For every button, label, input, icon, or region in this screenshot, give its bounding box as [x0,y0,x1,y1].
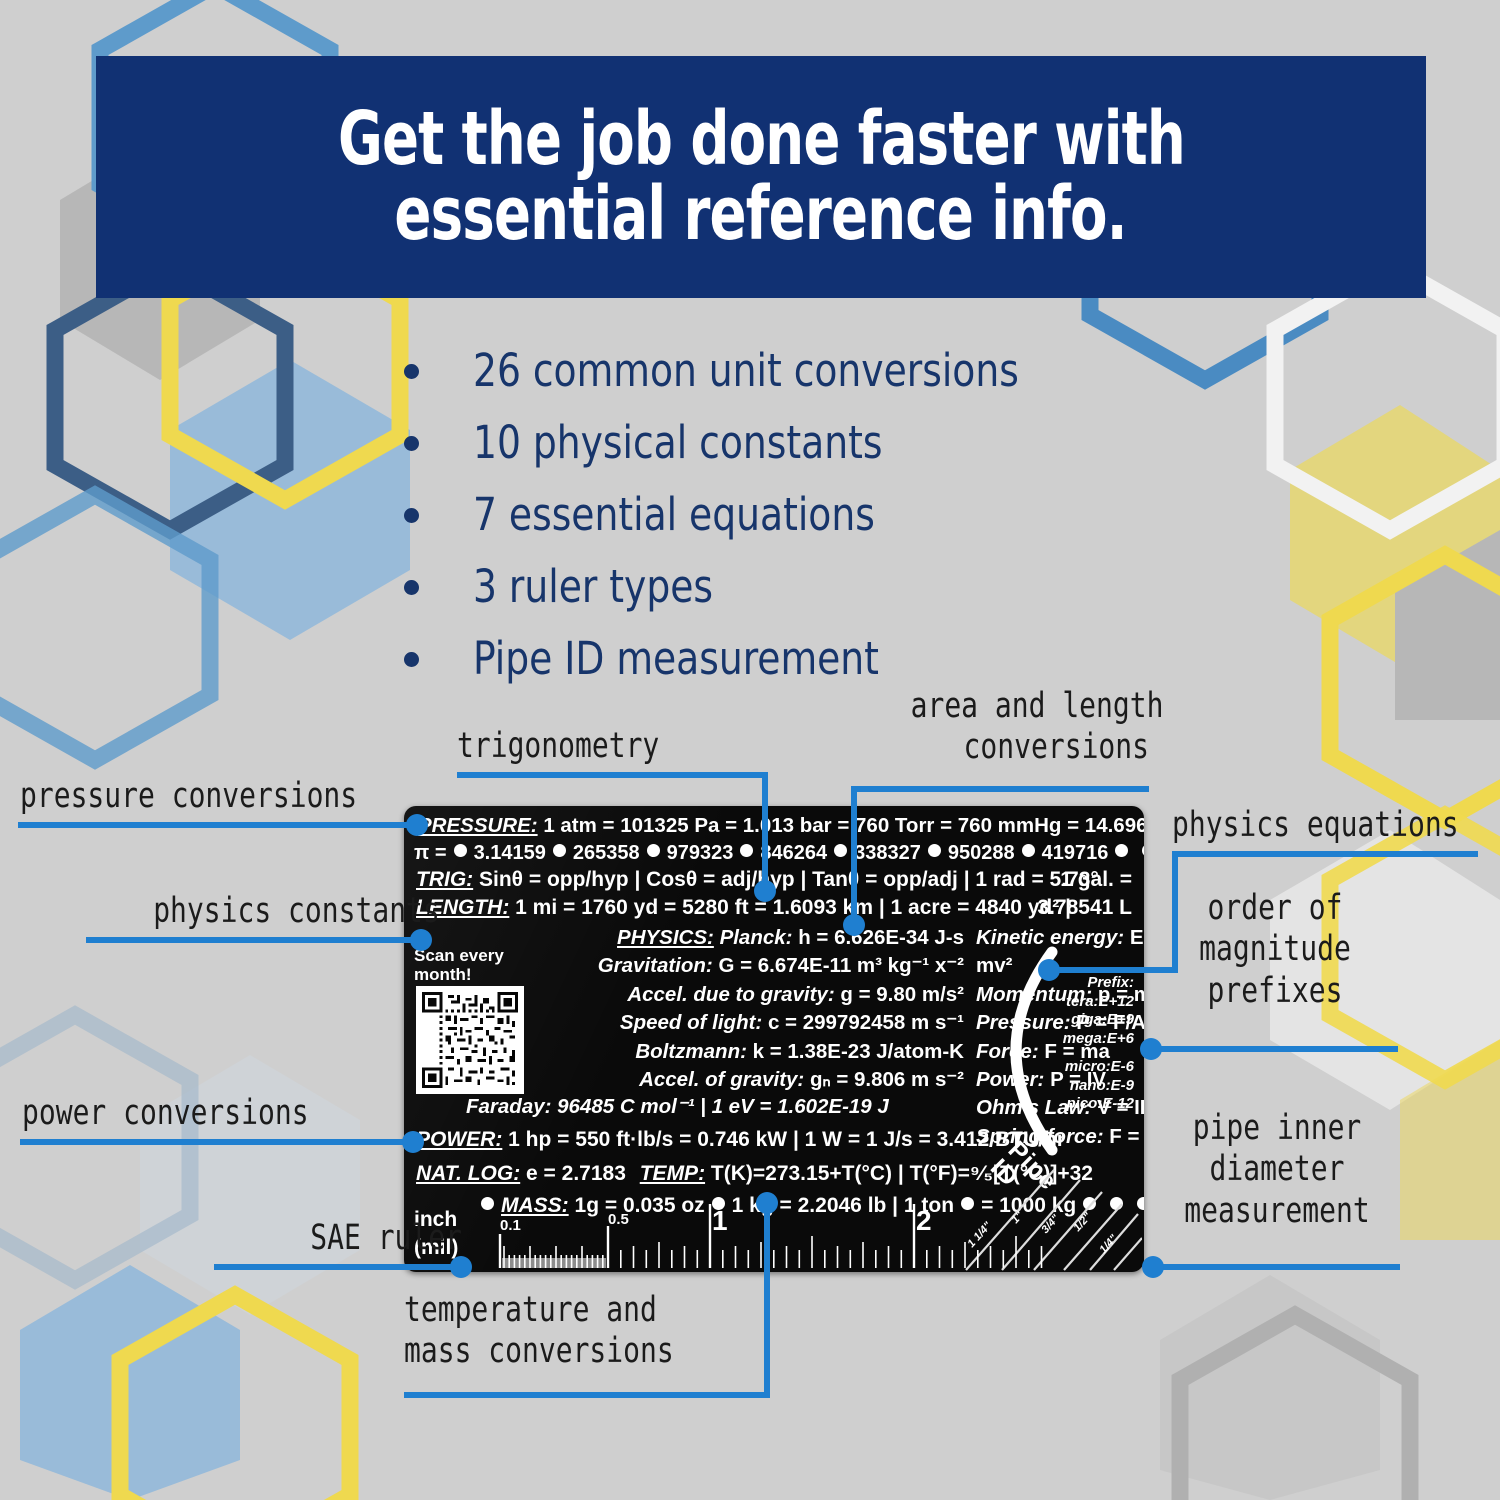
card-faraday-row: Faraday: 96485 C mol⁻¹ | 1 eV = 1.602E-1… [466,1094,889,1119]
leader-dot-physics-constants [410,929,432,951]
header-banner: Get the job done faster with essential r… [96,56,1426,298]
leader-line-temp-mass [404,1392,770,1398]
dot-separator-icon [834,844,847,857]
pipe-size-label: 1/4" [1097,1232,1120,1256]
leader-dot-power [402,1131,424,1153]
leader-dot-physics-equations [1038,959,1060,981]
callout-physics-constants: physics constants [153,891,422,932]
leader-line-trigonometry [457,772,768,778]
constant-value: h = 6.626E-34 J-s [798,926,964,949]
card-power-value: 1 hp = 550 ft·lb/s = 0.746 kW | 1 W = 1 … [508,1128,1065,1151]
card-power-row: POWER: 1 hp = 550 ft·lb/s = 0.746 kW | 1… [416,1128,1065,1152]
callout-pipe-inner-diameter: pipe inner diameter measurement [1179,1108,1376,1232]
prefix-gap [1022,1048,1134,1058]
list-item: 26 common unit conversions [404,340,1060,402]
bullet-label: 10 physical constants [473,412,882,474]
dot-separator-icon [1142,844,1144,857]
callout-temperature-mass-conversions: temperature and mass conversions [404,1290,674,1373]
leader-dot-pressure [406,814,428,836]
card-pressure-label: PRESSURE: [418,814,538,837]
card-natlog-label: NAT. LOG: [416,1162,520,1185]
prefix-item: mega:E+6 [1022,1030,1134,1049]
dot-separator-icon [553,844,566,857]
scan-line-2: month! [414,965,504,984]
card-length-row: LENGTH: 1 mi = 1760 yd = 5280 ft = 1.609… [416,896,1071,920]
callout-order-line-3: prefixes [1177,971,1374,1012]
dot-separator-icon [1022,844,1035,857]
card-temp-label: TEMP: [640,1162,705,1185]
card-pi-group-1: 265358 [573,842,640,864]
leader-line-physics-equations [1172,851,1478,857]
card-pi-group-2: 979323 [667,842,734,864]
leader-line-sae-ruler [214,1264,462,1270]
card-power-label: POWER: [416,1128,502,1151]
bullet-dot-icon [404,508,419,523]
callout-order-line-2: magnitude [1177,929,1374,970]
leader-line-temp-mass-vertical [764,1200,770,1392]
card-pi-group-3: 846264 [760,842,827,864]
card-pi-group-4: 338327 [854,842,921,864]
dot-separator-icon [1115,844,1128,857]
constant-name: Planck: [720,926,793,949]
bullet-label: 26 common unit conversions [473,340,1019,402]
card-physics-constants-column: PHYSICS: Planck: h = 6.626E-34 J-s Gravi… [524,924,964,1094]
constant-value: c = 299792458 m s⁻¹ [768,1011,964,1034]
constant-row: Speed of light: c = 299792458 m s⁻¹ [524,1009,964,1037]
ruler-tick-label: 0.1 [500,1217,521,1234]
ruler-tick-label: 2 [916,1205,932,1236]
list-item: 7 essential equations [404,484,1060,546]
leader-line-pipe-id [1154,1264,1400,1270]
card-pressure-row: PRESSURE: 1 atm = 101325 Pa = 1.013 bar … [418,814,1144,838]
card-pi-group-5: 950288 [948,842,1015,864]
callout-trigonometry: trigonometry [457,726,659,767]
callout-sae-ruler: SAE ruler [264,1218,462,1259]
leader-dot-pipe-id [1142,1256,1164,1278]
prefix-item: tera:E+12 [1022,993,1134,1012]
leader-dot-prefixes [1140,1038,1162,1060]
constant-value: G = 6.674E-11 m³ kg⁻¹ x⁻² [718,954,964,977]
callout-area-length-line-1: area and length [911,686,1149,727]
leader-dot-sae-ruler [450,1256,472,1278]
card-natlog-value: e = 2.7183 [526,1162,626,1185]
dot-separator-icon [928,844,941,857]
pipe-size-label: 1/2" [1071,1210,1094,1234]
leader-dot-trigonometry [754,880,776,902]
prefix-item: pico:E-12 [1022,1095,1134,1114]
leader-line-pressure [18,822,418,828]
constant-name: Accel. due to gravity: [627,983,834,1006]
leader-line-physics-constants [86,937,422,943]
constant-name: Gravitation: [598,954,713,977]
constant-row: Accel. of gravity: gₙ = 9.806 m s⁻² [524,1066,964,1094]
card-gallon-line-1: 1 gal. = [1060,868,1132,892]
constant-name: Boltzmann: [635,1040,747,1063]
dot-separator-icon [740,844,753,857]
leader-line-area-length [851,786,1149,792]
callout-pipe-line-3: measurement [1179,1191,1376,1232]
feature-bullet-list: 26 common unit conversions 10 physical c… [404,340,1060,700]
card-length-value: 1 mi = 1760 yd = 5280 ft = 1.6093 km | 1… [515,896,1071,919]
prefix-title: Prefix: [1022,974,1134,993]
constant-row: Boltzmann: k = 1.38E-23 J/atom-K [524,1038,964,1066]
prefix-item: nano:E-9 [1022,1077,1134,1096]
leader-line-trigonometry-vertical [762,772,768,892]
constant-name: Accel. of gravity: [639,1068,804,1091]
header-title-line-1: Get the job done faster with [338,102,1185,177]
constant-value: k = 1.38E-23 J/atom-K [753,1040,964,1063]
dot-separator-icon [454,844,467,857]
constant-name: Speed of light: [620,1011,762,1034]
callout-area-length-line-2: conversions [911,727,1149,768]
card-pi-label: π = [414,842,447,864]
scan-instruction-text: Scan every month! [414,946,504,984]
qr-code-icon[interactable] [416,986,524,1094]
card-physics-header-row: PHYSICS: Planck: h = 6.626E-34 J-s [524,924,964,952]
bullet-label: 3 ruler types [473,556,713,618]
callout-power-conversions: power conversions [22,1093,309,1134]
callout-area-length-conversions: area and length conversions [911,686,1149,769]
card-physics-label: PHYSICS: [617,926,714,949]
equation-value: F = -kx [1109,1125,1144,1148]
callout-temp-mass-line-2: mass conversions [404,1331,674,1372]
equation-name: Kinetic energy: [976,926,1124,949]
card-pi-group-6: 419716 [1042,842,1109,864]
leader-line-physics-equations-tail [1046,967,1178,973]
constant-row: Accel. due to gravity: g = 9.80 m/s² [524,981,964,1009]
ruler-tick-label: 0.5 [608,1211,629,1228]
bullet-label: Pipe ID measurement [473,628,879,690]
callout-pressure-conversions: pressure conversions [20,776,357,817]
header-title-line-2: essential reference info. [395,177,1127,252]
prefix-item: micro:E-6 [1022,1058,1134,1077]
callout-pipe-line-2: diameter [1179,1149,1376,1190]
card-trig-label: TRIG: [416,868,473,891]
bullet-dot-icon [404,436,419,451]
card-prefix-block: Prefix: tera:E+12 giga:E+9 mega:E+6 micr… [1022,974,1134,1114]
list-item: Pipe ID measurement [404,628,1060,690]
leader-line-prefixes [1152,1046,1398,1052]
list-item: 10 physical constants [404,412,1060,474]
bullet-label: 7 essential equations [473,484,875,546]
constant-value: gₙ = 9.806 m s⁻² [810,1068,964,1091]
bullet-dot-icon [404,580,419,595]
callout-pipe-line-1: pipe inner [1179,1108,1376,1149]
leader-line-area-length-vertical [851,786,857,926]
prefix-item: giga:E+9 [1022,1011,1134,1030]
card-gallon-line-2: 3.78541 L [1037,896,1132,920]
callout-temp-mass-line-1: temperature and [404,1290,674,1331]
leader-dot-area-length [843,914,865,936]
bullet-dot-icon [404,652,419,667]
constant-row: Gravitation: G = 6.674E-11 m³ kg⁻¹ x⁻² [524,952,964,980]
card-pressure-value: 1 atm = 101325 Pa = 1.013 bar = 760 Torr… [543,814,1144,837]
callout-order-line-1: order of [1177,888,1374,929]
constant-value: g = 9.80 m/s² [840,983,964,1006]
bullet-dot-icon [404,364,419,379]
dot-separator-icon [647,844,660,857]
leader-dot-temp-mass [756,1192,778,1214]
callout-order-of-magnitude-prefixes: order of magnitude prefixes [1177,888,1374,1012]
callout-physics-equations: physics equations [1172,805,1459,846]
leader-line-power [20,1139,414,1145]
list-item: 3 ruler types [404,556,1060,618]
card-pi-row: π =3.14159265358979323846264338327950288… [414,842,1144,865]
ruler-tick-label: 1 [712,1205,728,1236]
card-pi-group-0: 3.14159 [474,842,546,864]
card-trig-value: Sinθ = opp/hyp | Cosθ = adj/hyp | Tanθ =… [479,868,1099,891]
